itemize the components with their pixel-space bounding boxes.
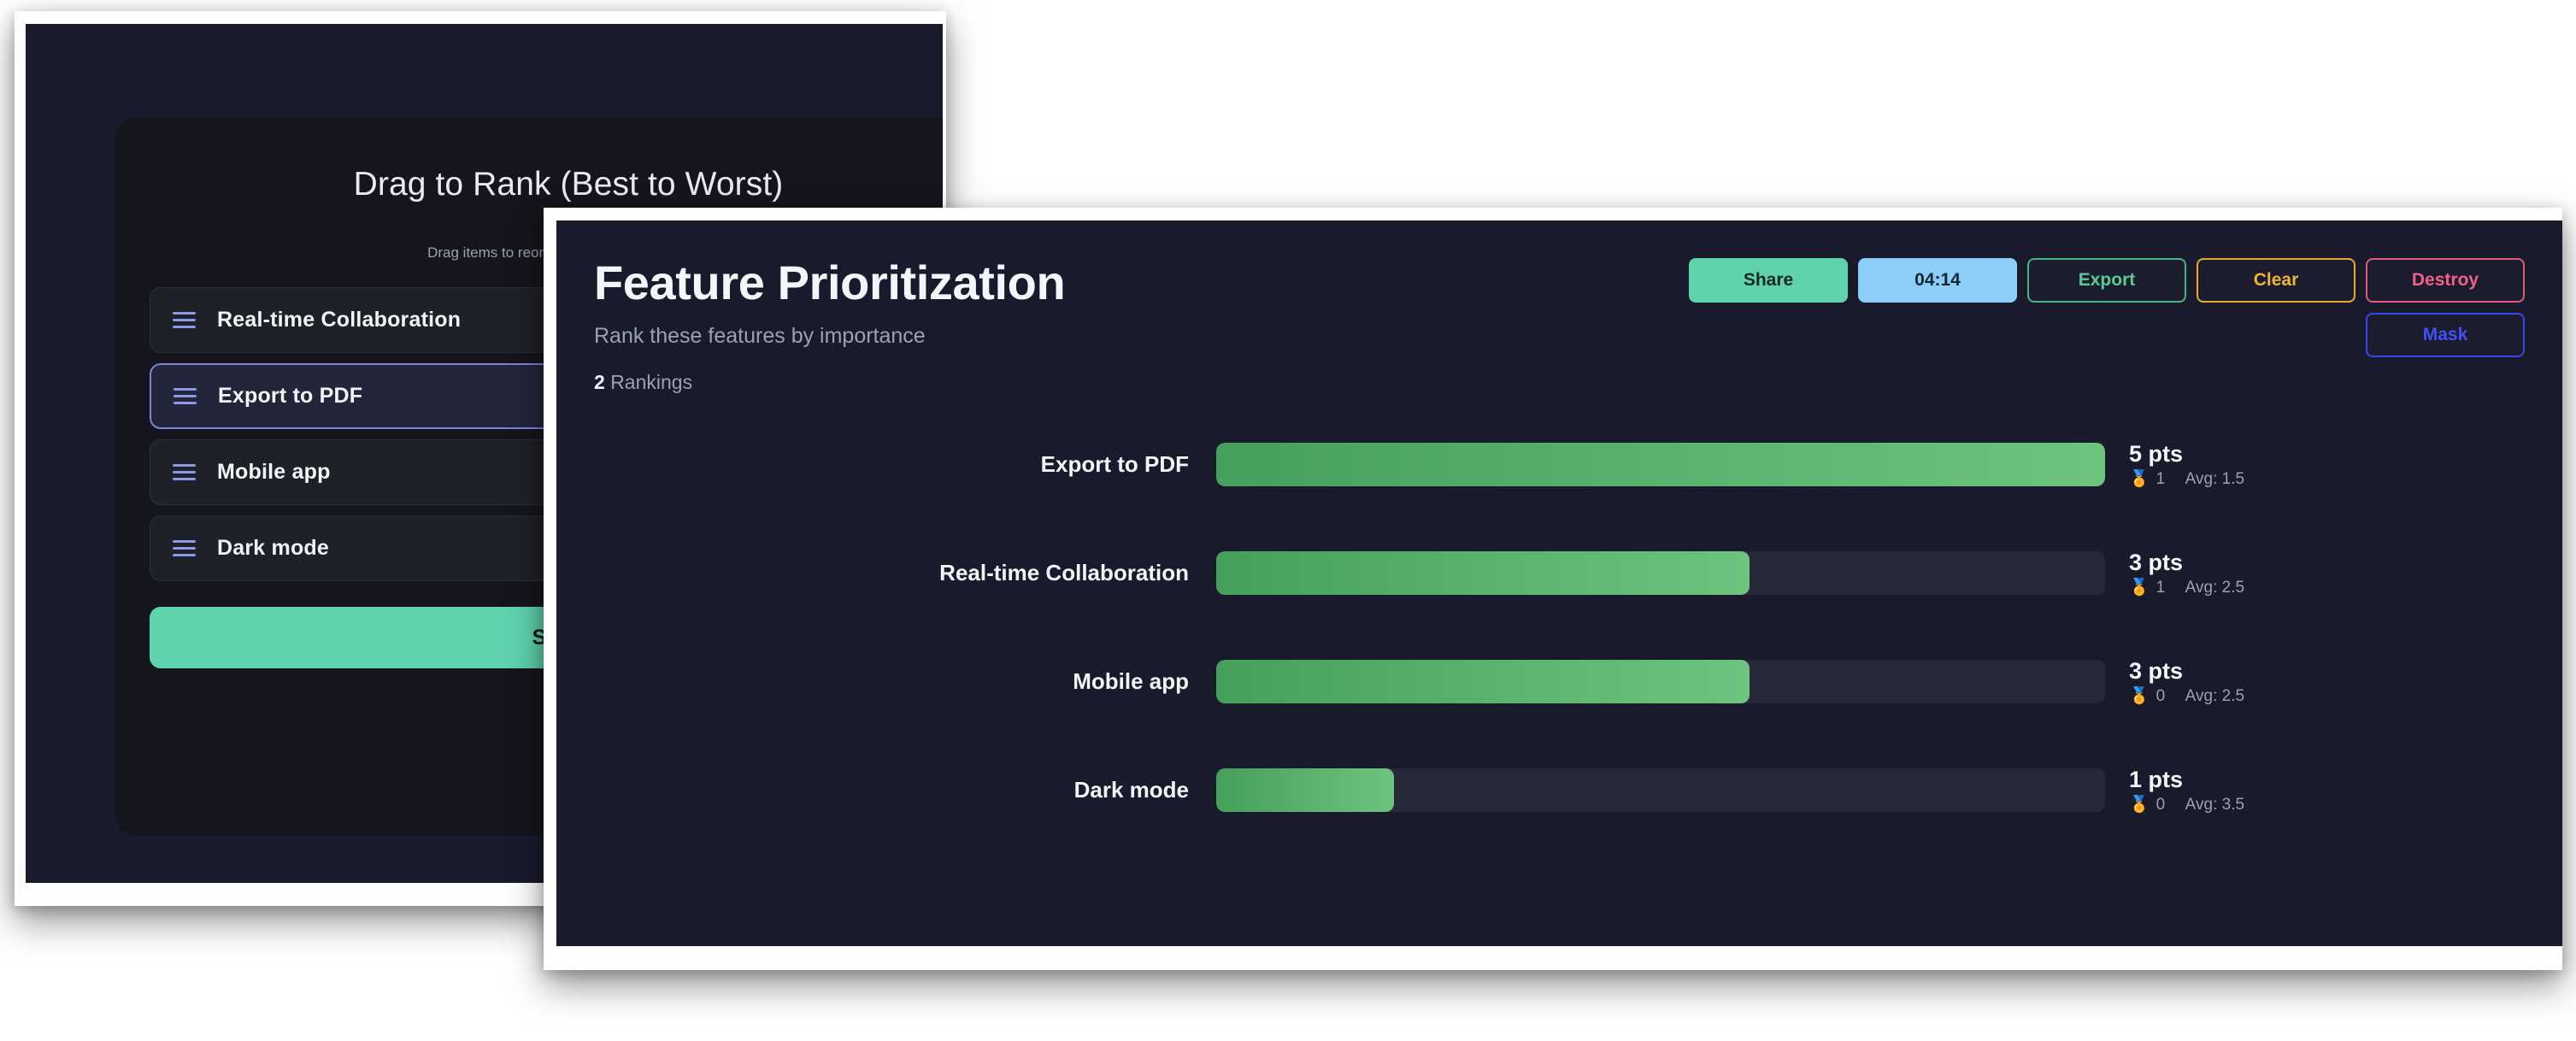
result-row: Export to PDF 5 pts 🏅 1 Avg: 1.5 <box>594 443 2525 486</box>
bar-fill <box>1216 551 1750 595</box>
drag-handle-icon[interactable] <box>173 540 196 556</box>
screenshot-stage: Drag to Rank (Best to Worst) Drag items … <box>0 0 2576 1041</box>
mask-button[interactable]: Mask <box>2366 313 2525 357</box>
result-stats: 1 pts 🏅 0 Avg: 3.5 <box>2105 768 2244 813</box>
drag-to-rank-title: Drag to Rank (Best to Worst) <box>150 166 943 203</box>
first-place-count: 1 <box>2156 579 2168 596</box>
timer-button[interactable]: 04:14 <box>1858 258 2017 303</box>
result-substats: 🏅 0 Avg: 3.5 <box>2129 797 2244 813</box>
bar-track <box>1216 768 2105 812</box>
average-rank: Avg: 2.5 <box>2185 688 2244 704</box>
drag-handle-icon[interactable] <box>173 388 197 404</box>
points-value: 1 pts <box>2129 768 2244 791</box>
result-label: Dark mode <box>594 777 1216 803</box>
results-chart: Export to PDF 5 pts 🏅 1 Avg: 1.5 <box>556 443 2562 812</box>
destroy-button[interactable]: Destroy <box>2366 258 2525 303</box>
bar-fill <box>1216 443 2105 486</box>
average-rank: Avg: 1.5 <box>2185 471 2244 487</box>
bar-fill <box>1216 660 1750 703</box>
result-label: Export to PDF <box>594 451 1216 478</box>
feature-prioritization-viewport: Feature Prioritization Rank these featur… <box>556 221 2562 946</box>
first-place-count: 0 <box>2156 688 2168 704</box>
rank-item-label: Real-time Collaboration <box>217 308 461 332</box>
first-place-count: 0 <box>2156 797 2168 813</box>
export-button[interactable]: Export <box>2027 258 2186 303</box>
rankings-count-word: Rankings <box>610 371 692 393</box>
result-label: Mobile app <box>594 668 1216 695</box>
bar-track <box>1216 443 2105 486</box>
result-row: Mobile app 3 pts 🏅 0 Avg: 2.5 <box>594 660 2525 703</box>
drag-handle-icon[interactable] <box>173 312 196 328</box>
average-rank: Avg: 2.5 <box>2185 579 2244 596</box>
result-stats: 3 pts 🏅 1 Avg: 2.5 <box>2105 551 2244 596</box>
bar-track <box>1216 660 2105 703</box>
feature-prioritization-window: Feature Prioritization Rank these featur… <box>544 208 2562 970</box>
first-place-medal-icon: 🏅 <box>2129 471 2150 487</box>
result-substats: 🏅 0 Avg: 2.5 <box>2129 688 2244 704</box>
toolbar: Share 04:14 Export Clear Destroy Mask <box>1670 258 2525 357</box>
points-value: 3 pts <box>2129 660 2244 683</box>
result-label: Real-time Collaboration <box>594 560 1216 586</box>
points-value: 3 pts <box>2129 551 2244 574</box>
points-value: 5 pts <box>2129 443 2244 466</box>
result-row: Real-time Collaboration 3 pts 🏅 1 Avg: 2… <box>594 551 2525 595</box>
result-substats: 🏅 1 Avg: 1.5 <box>2129 471 2244 487</box>
result-substats: 🏅 1 Avg: 2.5 <box>2129 579 2244 596</box>
rankings-count-value: 2 <box>594 371 605 393</box>
bar-fill <box>1216 768 1394 812</box>
result-row: Dark mode 1 pts 🏅 0 Avg: 3.5 <box>594 768 2525 812</box>
bar-track <box>1216 551 2105 595</box>
first-place-medal-icon: 🏅 <box>2129 797 2150 813</box>
first-place-medal-icon: 🏅 <box>2129 688 2150 704</box>
rank-item-label: Dark mode <box>217 536 329 561</box>
app-header: Feature Prioritization Rank these featur… <box>556 221 2562 434</box>
rank-item-label: Export to PDF <box>218 384 362 409</box>
clear-button[interactable]: Clear <box>2197 258 2355 303</box>
rank-item-label: Mobile app <box>217 460 331 485</box>
rankings-count: 2 Rankings <box>594 371 2525 394</box>
share-button[interactable]: Share <box>1689 258 1848 303</box>
drag-handle-icon[interactable] <box>173 464 196 480</box>
result-stats: 5 pts 🏅 1 Avg: 1.5 <box>2105 443 2244 487</box>
first-place-count: 1 <box>2156 471 2168 487</box>
first-place-medal-icon: 🏅 <box>2129 579 2150 596</box>
average-rank: Avg: 3.5 <box>2185 797 2244 813</box>
result-stats: 3 pts 🏅 0 Avg: 2.5 <box>2105 660 2244 704</box>
